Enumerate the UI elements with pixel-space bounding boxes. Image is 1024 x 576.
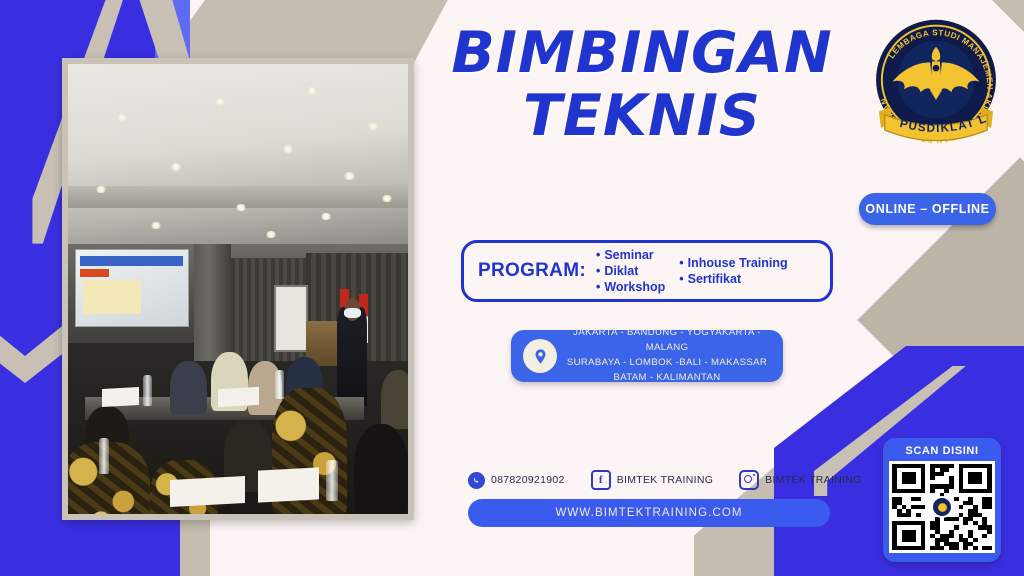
program-item: •Diklat [596,263,665,279]
qr-code [889,461,995,553]
program-item: •Seminar [596,247,665,263]
bullet-icon: • [596,264,600,278]
page-title: BIMBINGAN TEKNIS [432,26,852,143]
flyer-canvas: BIMBINGAN TEKNIS LEMBAGA STUDI MANAJEMEN… [0,0,1024,576]
contact-whatsapp[interactable]: 087820921902 [468,472,565,489]
locations-line: BATAM - KALIMANTAN [557,371,777,386]
facebook-handle: BIMTEK TRAINING [617,474,713,486]
locations-line: SURABAYA - LOMBOK -BALI - MAKASSAR [557,356,777,371]
bullet-icon: • [596,248,600,262]
mode-badge-label: ONLINE – OFFLINE [865,202,989,216]
bullet-icon: • [596,280,600,294]
qr-card[interactable]: SCAN DISINI [883,438,1001,562]
program-label: PROGRAM: [478,260,586,282]
locations-text: JAKARTA - BANDUNG - YOGYAKARTA - MALANG … [557,326,783,385]
mode-badge[interactable]: ONLINE – OFFLINE [859,193,996,225]
website-label: WWW.BIMTEKTRAINING.COM [555,507,742,519]
contact-instagram[interactable]: BIMTEK TRAINING [739,470,861,490]
training-photo [62,58,414,520]
instagram-icon [739,470,759,490]
map-pin-icon [523,339,557,373]
whatsapp-icon [468,472,485,489]
whatsapp-number: 087820921902 [491,474,565,486]
facebook-icon: f [591,470,611,490]
program-item: •Inhouse Training [679,255,787,271]
program-column-1: •Seminar •Diklat •Workshop [596,247,665,295]
contact-row: 087820921902 f BIMTEK TRAINING BIMTEK TR… [468,468,840,492]
bullet-icon: • [679,256,683,270]
program-box: PROGRAM: •Seminar •Diklat •Workshop •Inh… [461,240,833,302]
program-item: •Workshop [596,279,665,295]
bullet-icon: • [679,272,683,286]
qr-title: SCAN DISINI [889,446,995,457]
contact-facebook[interactable]: f BIMTEK TRAINING [591,470,713,490]
title-line-2: TEKNIS [432,89,852,144]
locations-line: JAKARTA - BANDUNG - YOGYAKARTA - MALANG [557,326,777,356]
qr-center-logo-icon [931,496,953,518]
website-bar[interactable]: WWW.BIMTEKTRAINING.COM [468,499,830,527]
instagram-handle: BIMTEK TRAINING [765,474,861,486]
locations-badge: JAKARTA - BANDUNG - YOGYAKARTA - MALANG … [511,330,783,382]
pusdiklat-lsmap-logo: LEMBAGA STUDI MANAJEMEN AKUNTANSI DAN PE… [862,14,1010,159]
program-column-2: •Inhouse Training •Sertifikat [679,247,787,295]
program-item: •Sertifikat [679,271,787,287]
title-line-1: BIMBINGAN [432,26,852,81]
